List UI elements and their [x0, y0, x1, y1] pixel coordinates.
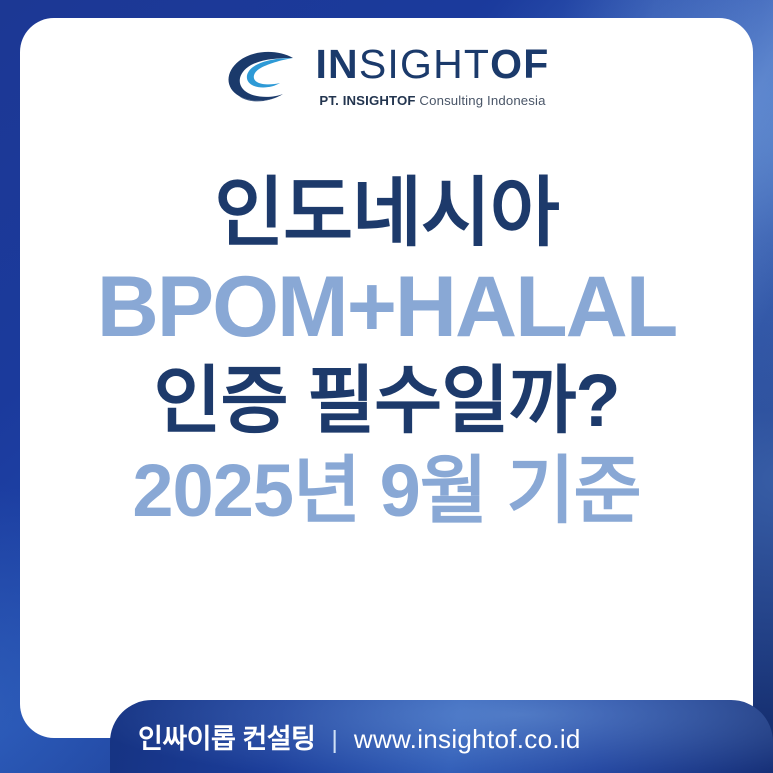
headline-line-3: 인증 필수일까?: [20, 364, 753, 438]
tagline-descriptor: Consulting Indonesia: [416, 93, 546, 108]
logo-tagline: PT. INSIGHTOF Consulting Indonesia: [319, 94, 545, 107]
logo-wordmark: INSIGHTOF: [315, 44, 549, 85]
headline-line-1: 인도네시아: [20, 176, 753, 252]
wordmark-sight: SIGHT: [359, 41, 490, 87]
footer-content: 인싸이롭 컨설팅 | www.insightof.co.id: [138, 717, 581, 756]
brand-logo-block: INSIGHTOF PT. INSIGHTOF Consulting Indon…: [20, 44, 753, 107]
headline-block: 인도네시아 BPOM+HALAL 인증 필수일까? 2025년 9월 기준: [20, 176, 753, 528]
headline-line-2: BPOM+HALAL: [20, 264, 753, 350]
wordmark-in: IN: [315, 41, 358, 87]
footer-separator: |: [315, 726, 354, 755]
poster-background: INSIGHTOF PT. INSIGHTOF Consulting Indon…: [0, 0, 773, 773]
insightof-e-swoosh-icon: [223, 47, 301, 105]
footer-brand-name: 인싸이롭 컨설팅: [138, 717, 315, 756]
headline-line-4: 2025년 9월 기준: [20, 454, 753, 528]
tagline-company: PT. INSIGHTOF: [319, 93, 415, 108]
footer-bar: 인싸이롭 컨설팅 | www.insightof.co.id: [110, 700, 773, 773]
white-content-card: INSIGHTOF PT. INSIGHTOF Consulting Indon…: [20, 18, 753, 738]
logo-lockup: INSIGHTOF PT. INSIGHTOF Consulting Indon…: [223, 44, 549, 107]
logo-text-group: INSIGHTOF PT. INSIGHTOF Consulting Indon…: [315, 44, 549, 107]
footer-website-url[interactable]: www.insightof.co.id: [354, 724, 581, 755]
wordmark-of: OF: [490, 41, 549, 87]
